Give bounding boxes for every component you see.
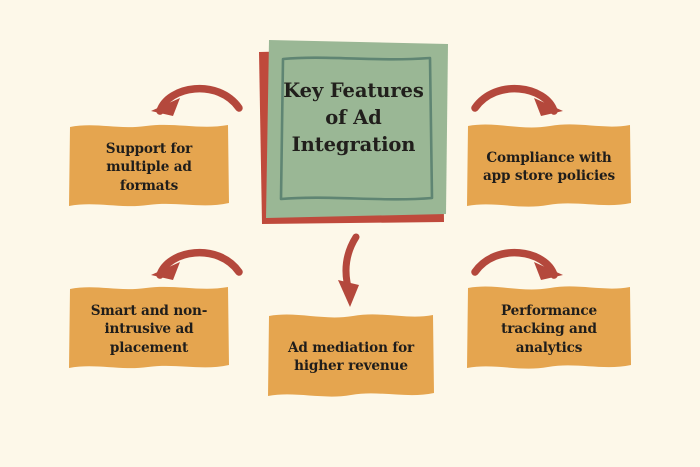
card-support-for-multiple-ad-formats[interactable]: Support for multiple ad formats <box>66 120 232 210</box>
card-label: Smart and non- intrusive ad placement <box>66 302 232 357</box>
card-label-line-1: Ad mediation for <box>265 339 437 357</box>
card-label-line-1: Support for <box>66 140 232 158</box>
card-performance-tracking-and-analytics[interactable]: Performance tracking and analytics <box>464 282 634 372</box>
center-node-title: Key Features of Ad Integration <box>270 78 437 159</box>
card-label-line-1: Smart and non- <box>66 302 232 320</box>
card-label: Support for multiple ad formats <box>66 140 232 195</box>
arrow-top-right <box>468 72 568 126</box>
center-node[interactable]: Key Features of Ad Integration <box>256 38 451 228</box>
arrow-top-left <box>146 72 246 126</box>
card-label-line-2: intrusive ad <box>66 320 232 338</box>
card-label: Ad mediation for higher revenue <box>265 339 437 376</box>
card-label: Performance tracking and analytics <box>464 302 634 357</box>
card-label-line-2: tracking and <box>464 320 634 338</box>
card-label-line-2: multiple ad <box>66 158 232 176</box>
card-label-line-3: formats <box>66 177 232 195</box>
card-label-line-3: analytics <box>464 339 634 357</box>
arrow-down <box>326 232 378 312</box>
card-compliance-with-app-store-policies[interactable]: Compliance with app store policies <box>464 120 634 210</box>
center-title-line-3: Integration <box>270 132 437 159</box>
card-label-line-2: app store policies <box>464 167 634 185</box>
card-label-line-1: Compliance with <box>464 149 634 167</box>
card-smart-and-non-intrusive-ad-placement[interactable]: Smart and non- intrusive ad placement <box>66 282 232 372</box>
card-label-line-1: Performance <box>464 302 634 320</box>
card-label-line-2: higher revenue <box>265 357 437 375</box>
card-label-line-3: placement <box>66 339 232 357</box>
card-ad-mediation-for-higher-revenue[interactable]: Ad mediation for higher revenue <box>265 310 437 400</box>
card-label: Compliance with app store policies <box>464 149 634 186</box>
diagram-canvas: Key Features of Ad Integration Support f… <box>0 0 700 467</box>
center-title-line-2: of Ad <box>270 105 437 132</box>
center-title-line-1: Key Features <box>270 78 437 105</box>
